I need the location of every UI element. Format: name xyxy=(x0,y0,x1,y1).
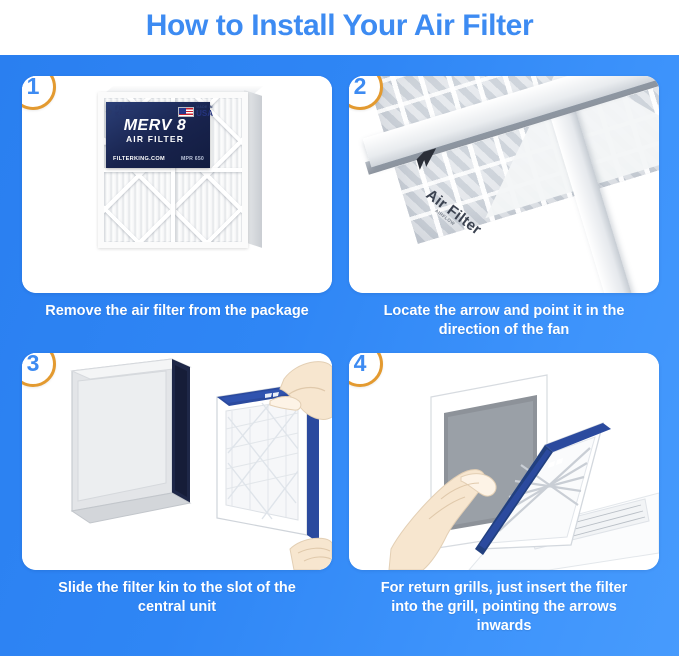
brand-line-1: FILTER xyxy=(115,106,137,112)
made-in-usa-badge: MADE IN USA xyxy=(178,106,213,118)
hand-supporting-filter xyxy=(290,538,332,570)
step-1-card: ♚ FILTER KING MADE IN xyxy=(22,76,332,293)
step-2-caption-line-1: Locate the arrow and point it in the xyxy=(349,302,659,321)
step-3-number: 3 xyxy=(27,353,40,377)
infographic-root: How to Install Your Air Filter xyxy=(0,0,679,656)
filter-brand-row: ♚ FILTER KING MADE IN xyxy=(105,104,213,120)
header: How to Install Your Air Filter xyxy=(0,0,679,55)
step-1-caption: Remove the air filter from the package xyxy=(22,302,332,321)
steps-grid: ♚ FILTER KING MADE IN xyxy=(0,55,679,656)
step-4-card: 4 xyxy=(349,353,659,570)
usa-flag-icon xyxy=(178,107,194,117)
brand-line-2: KING xyxy=(115,112,131,118)
step-3-caption-line-2: central unit xyxy=(22,598,332,617)
step-1-image: ♚ FILTER KING MADE IN xyxy=(22,76,332,293)
step-4-caption-line-3: inwards xyxy=(349,617,659,636)
central-unit-slot xyxy=(72,359,190,523)
step-2-image: Air Filter AIRFLOW xyxy=(349,76,659,293)
filter-corner-photo: Air Filter AIRFLOW xyxy=(349,76,659,293)
step-3-caption-line-1: Slide the filter kin to the slot of the xyxy=(22,579,332,598)
step-3-card: 3 xyxy=(22,353,332,570)
page-title: How to Install Your Air Filter xyxy=(146,11,533,45)
step-2-number: 2 xyxy=(354,76,367,100)
step-4: 4 For return grills, just insert the fil… xyxy=(349,353,659,636)
merv-rating: MERV 8 xyxy=(106,118,204,134)
step-4-caption-line-2: into the grill, pointing the arrows xyxy=(349,598,659,617)
mpr-rating: MPR 650 xyxy=(181,156,204,162)
step-4-caption-line-1: For return grills, just insert the filte… xyxy=(349,579,659,598)
air-filter-subtitle: AIR FILTER xyxy=(106,135,204,144)
step-4-caption: For return grills, just insert the filte… xyxy=(349,579,659,636)
step-4-number: 4 xyxy=(354,353,367,377)
step-3-image xyxy=(22,353,332,570)
step-1-number: 1 xyxy=(27,76,40,100)
step-4-image xyxy=(349,353,659,570)
usa-label: USA xyxy=(196,110,213,118)
filter-king-logo: ♚ FILTER KING xyxy=(105,106,137,118)
step-2-card: Air Filter AIRFLOW 2 xyxy=(349,76,659,293)
brand-website: FILTERKING.COM xyxy=(113,156,165,162)
step-3-caption: Slide the filter kin to the slot of the … xyxy=(22,579,332,617)
merv-8-air-filter-photo: ♚ FILTER KING MADE IN xyxy=(94,84,264,248)
brand-name: FILTER KING xyxy=(115,106,137,118)
step-3: 3 Slide the filter kin to the slot of th… xyxy=(22,353,332,617)
illustration-return-grill xyxy=(349,353,659,570)
made-in-usa-text: MADE IN USA xyxy=(196,106,213,118)
step-2: Air Filter AIRFLOW 2 Locate the arrow an… xyxy=(349,76,659,340)
step-2-caption-line-2: direction of the fan xyxy=(349,321,659,340)
illustration-slide-filter xyxy=(22,353,332,570)
label-footer: FILTERKING.COM MPR 650 xyxy=(113,156,204,162)
step-2-caption: Locate the arrow and point it in the dir… xyxy=(349,302,659,340)
step-1: ♚ FILTER KING MADE IN xyxy=(22,76,332,321)
crown-icon: ♚ xyxy=(105,108,113,117)
